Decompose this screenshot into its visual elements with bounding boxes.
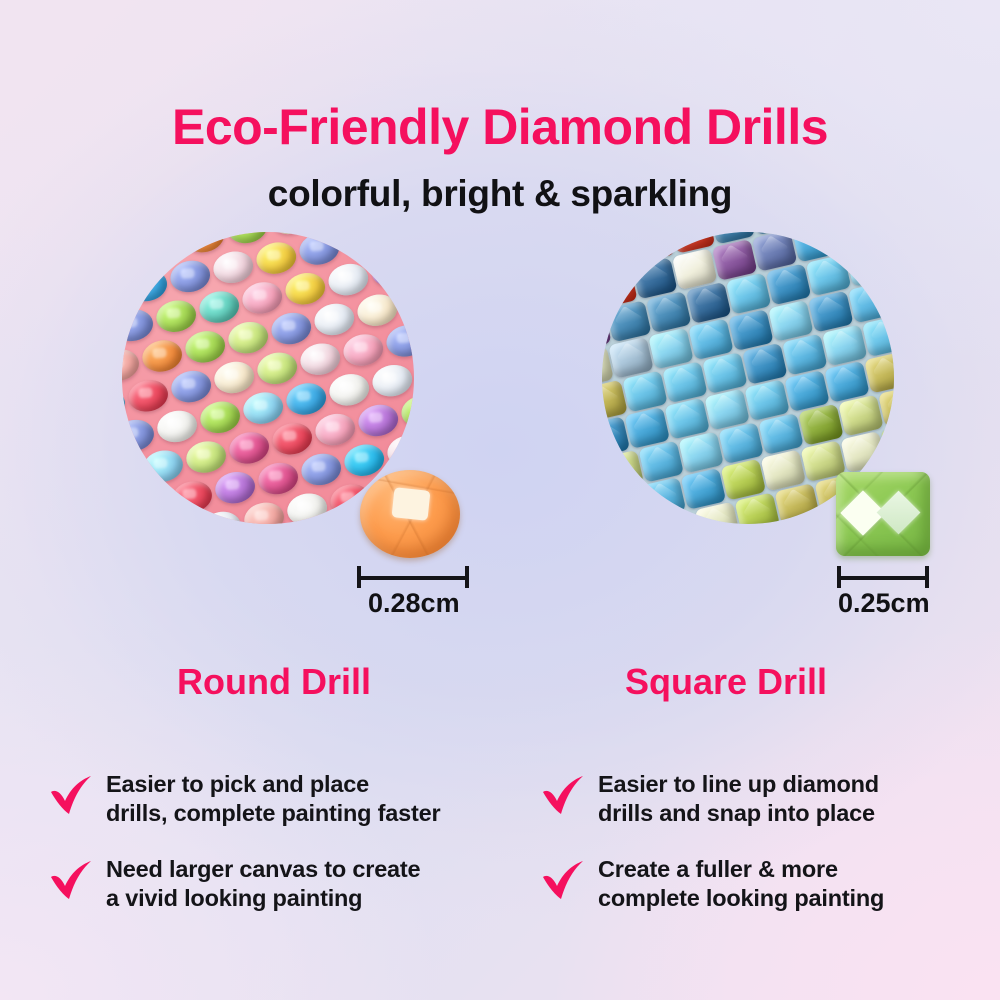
round-drill — [327, 371, 373, 410]
round-drill — [342, 441, 388, 480]
poster-root: Eco-Friendly Diamond Drills colorful, br… — [0, 0, 1000, 1000]
round-drill — [122, 416, 157, 455]
round-drill — [356, 401, 402, 440]
square-drill — [719, 423, 765, 465]
round-drill — [122, 236, 141, 275]
check-mark-icon — [48, 859, 94, 903]
round-drill — [211, 248, 257, 287]
check-mark-icon — [540, 774, 586, 818]
round-drill — [241, 389, 287, 428]
round-drill — [226, 319, 272, 358]
round-drill — [225, 232, 271, 247]
heading-round-drill: Round Drill — [177, 661, 371, 703]
orange-round-drill-icon — [360, 470, 460, 558]
round-drill-grid — [122, 232, 414, 524]
round-drill — [385, 432, 414, 471]
round-drill — [212, 469, 258, 508]
list-item: Need larger canvas to create a vivid loo… — [48, 855, 518, 912]
round-drill — [139, 232, 185, 265]
square-drill — [742, 343, 788, 385]
square-drill — [862, 315, 894, 357]
square-drill — [602, 450, 644, 492]
round-drill — [197, 288, 243, 327]
square-drill — [806, 255, 852, 297]
round-drill — [413, 352, 414, 391]
round-drill — [285, 490, 331, 524]
scale-line — [357, 576, 469, 580]
scale-bar-round — [357, 566, 469, 588]
round-drill — [269, 309, 315, 348]
round-drill — [298, 340, 344, 379]
square-drill — [679, 432, 725, 474]
square-drill — [630, 232, 676, 263]
round-drill — [154, 407, 200, 446]
square-drill — [726, 273, 772, 315]
square-drill — [775, 483, 821, 524]
scale-bar-square — [837, 566, 929, 588]
round-drill — [312, 300, 358, 339]
round-drill — [126, 487, 172, 524]
round-drill — [297, 232, 343, 268]
round-drill — [412, 242, 414, 281]
round-drill — [398, 282, 414, 321]
scale-label-round: 0.28cm — [368, 588, 460, 619]
round-drill — [139, 337, 185, 376]
square-drill — [686, 282, 732, 324]
round-drill — [314, 521, 360, 524]
round-drill — [384, 322, 414, 361]
feature-list-round: Easier to pick and place drills, complet… — [48, 770, 518, 941]
round-drill — [182, 232, 228, 256]
round-drill — [140, 447, 186, 486]
round-drill — [254, 239, 300, 278]
round-drill — [122, 386, 128, 425]
round-drill — [197, 398, 243, 437]
list-item: Create a fuller & more complete looking … — [540, 855, 980, 912]
square-drill — [758, 413, 804, 455]
list-item-label: Create a fuller & more complete looking … — [598, 855, 884, 912]
round-drill — [122, 456, 143, 495]
round-drill — [383, 232, 414, 250]
round-drill — [255, 349, 301, 388]
list-item: Easier to line up diamond drills and sna… — [540, 770, 980, 827]
round-drill — [370, 361, 414, 400]
scale-line — [837, 576, 929, 580]
square-drill — [782, 334, 828, 376]
round-drill — [122, 496, 129, 524]
feature-list-square: Easier to line up diamond drills and sna… — [540, 770, 980, 941]
round-drill — [284, 380, 330, 419]
round-drill — [168, 367, 214, 406]
round-drill — [355, 291, 401, 330]
square-drill — [622, 371, 668, 413]
round-drill — [226, 429, 272, 468]
green-square-drill-icon — [836, 472, 930, 556]
square-drill — [662, 362, 708, 404]
list-item-label: Easier to line up diamond drills and sna… — [598, 770, 879, 827]
round-drill — [255, 459, 301, 498]
round-drill — [122, 306, 156, 345]
round-drill — [240, 279, 286, 318]
round-drill — [369, 251, 414, 290]
square-drill — [606, 301, 652, 343]
square-drill — [864, 352, 894, 394]
square-drill — [798, 404, 844, 446]
round-drill — [169, 478, 215, 517]
round-drill — [341, 331, 387, 370]
square-drill — [602, 487, 647, 524]
round-drill — [283, 270, 329, 309]
check-mark-icon — [48, 774, 94, 818]
list-item: Easier to pick and place drills, complet… — [48, 770, 518, 827]
round-drill — [122, 276, 127, 315]
round-drill — [183, 438, 229, 477]
round-drill — [154, 297, 200, 336]
round-drill — [326, 260, 372, 299]
round-drill — [125, 377, 171, 416]
round-drill — [122, 346, 142, 385]
list-item-label: Easier to pick and place drills, complet… — [106, 770, 440, 827]
square-drill — [838, 395, 884, 437]
round-drill — [198, 508, 244, 524]
check-mark-icon — [540, 859, 586, 903]
round-drill — [399, 392, 414, 431]
scale-cap-right — [925, 566, 929, 588]
round-drill — [168, 257, 214, 296]
facet-highlight — [392, 488, 431, 522]
square-drill — [639, 441, 685, 483]
round-drill — [299, 450, 345, 489]
scale-cap-right — [465, 566, 469, 588]
photo-round-drills — [122, 232, 414, 524]
round-drill — [183, 328, 229, 367]
square-drill — [822, 325, 868, 367]
round-drill — [125, 266, 171, 305]
round-drill — [270, 420, 316, 459]
heading-square-drill: Square Drill — [625, 661, 827, 703]
round-drill — [241, 499, 287, 524]
square-drill — [646, 291, 692, 333]
round-drill — [212, 358, 258, 397]
round-drill — [313, 410, 359, 449]
page-title: Eco-Friendly Diamond Drills — [0, 98, 1000, 156]
square-drill — [702, 352, 748, 394]
square-drill — [846, 245, 892, 287]
square-drill — [766, 264, 812, 306]
scale-label-square: 0.25cm — [838, 588, 930, 619]
round-drill — [155, 517, 201, 524]
page-subtitle: colorful, bright & sparkling — [0, 173, 1000, 215]
round-drill — [340, 232, 386, 259]
list-item-label: Need larger canvas to create a vivid loo… — [106, 855, 420, 912]
